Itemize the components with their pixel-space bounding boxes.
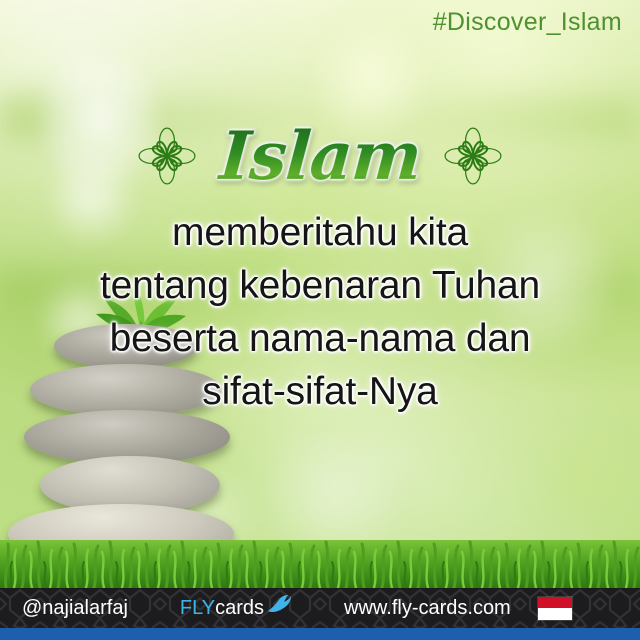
bird-icon: [266, 594, 292, 614]
celtic-knot-ornament-left: [136, 125, 198, 187]
grass-blades: [0, 540, 640, 588]
brand-fly-text: FLY: [180, 597, 215, 620]
footer-blue-strip: [0, 628, 640, 640]
footer-content: @najialarfaj FLYcards www.fly-cards.com: [0, 588, 640, 628]
hashtag-label: #Discover_Islam: [433, 8, 622, 37]
quote-text: memberitahu kita tentang kebenaran Tuhan…: [0, 206, 640, 418]
title-row: Islam: [0, 108, 640, 204]
celtic-knot-ornament-right: [442, 125, 504, 187]
page-title: Islam: [213, 123, 426, 189]
flycards-brand[interactable]: FLYcards: [180, 597, 292, 620]
indonesia-flag-icon: [537, 596, 573, 621]
grass-band: [0, 540, 640, 588]
quote-line-3: beserta nama-nama dan: [0, 312, 640, 365]
flag-white-band: [538, 608, 572, 620]
brand-cards-text: cards: [215, 597, 264, 620]
author-handle[interactable]: @najialarfaj: [22, 597, 128, 620]
quote-line-2: tentang kebenaran Tuhan: [0, 259, 640, 312]
quote-line-1: memberitahu kita: [0, 206, 640, 259]
quote-line-4: sifat-sifat-Nya: [0, 365, 640, 418]
flag-red-band: [538, 597, 572, 609]
footer-bar: @najialarfaj FLYcards www.fly-cards.com: [0, 588, 640, 640]
islam-quote-card: #Discover_Islam Islam: [0, 0, 640, 640]
website-url[interactable]: www.fly-cards.com: [344, 597, 511, 620]
